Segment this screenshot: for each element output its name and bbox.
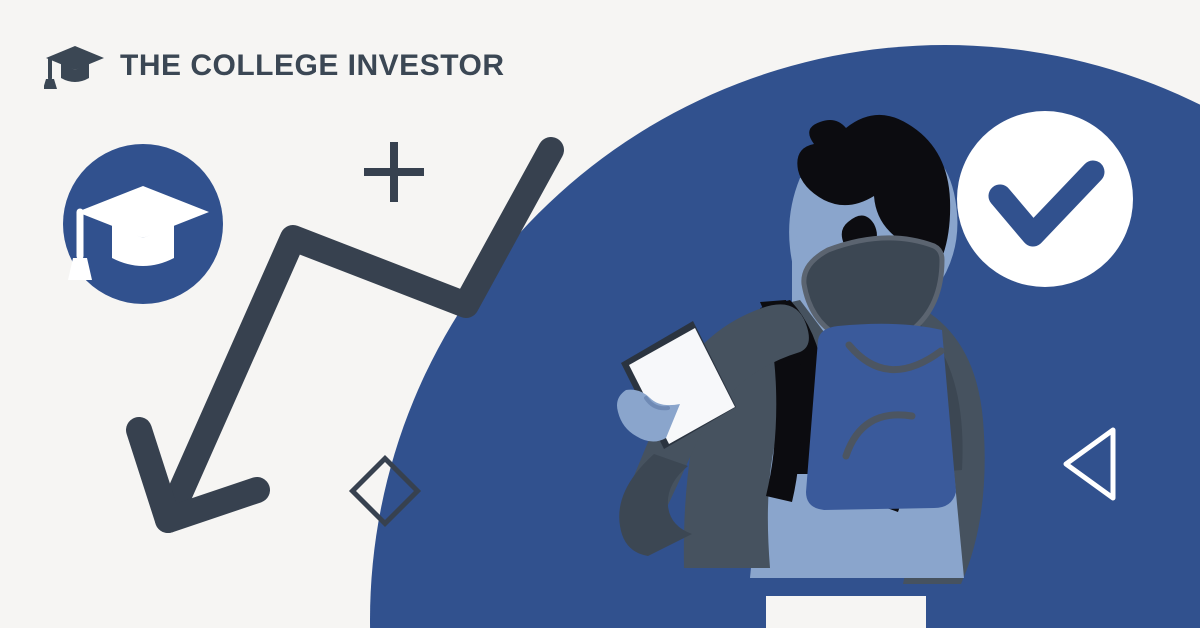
checkmark-badge (957, 111, 1133, 287)
figure-base (766, 596, 926, 628)
artwork-layer (0, 0, 1200, 628)
graduation-cap-badge (63, 144, 223, 304)
graduation-cap-icon (44, 42, 106, 90)
checkmark-badge-circle (957, 111, 1133, 287)
brand-lockup[interactable]: THE COLLEGE INVESTOR (44, 42, 505, 90)
hero-graphic-canvas: THE COLLEGE INVESTOR (0, 0, 1200, 628)
brand-name: THE COLLEGE INVESTOR (120, 51, 505, 81)
